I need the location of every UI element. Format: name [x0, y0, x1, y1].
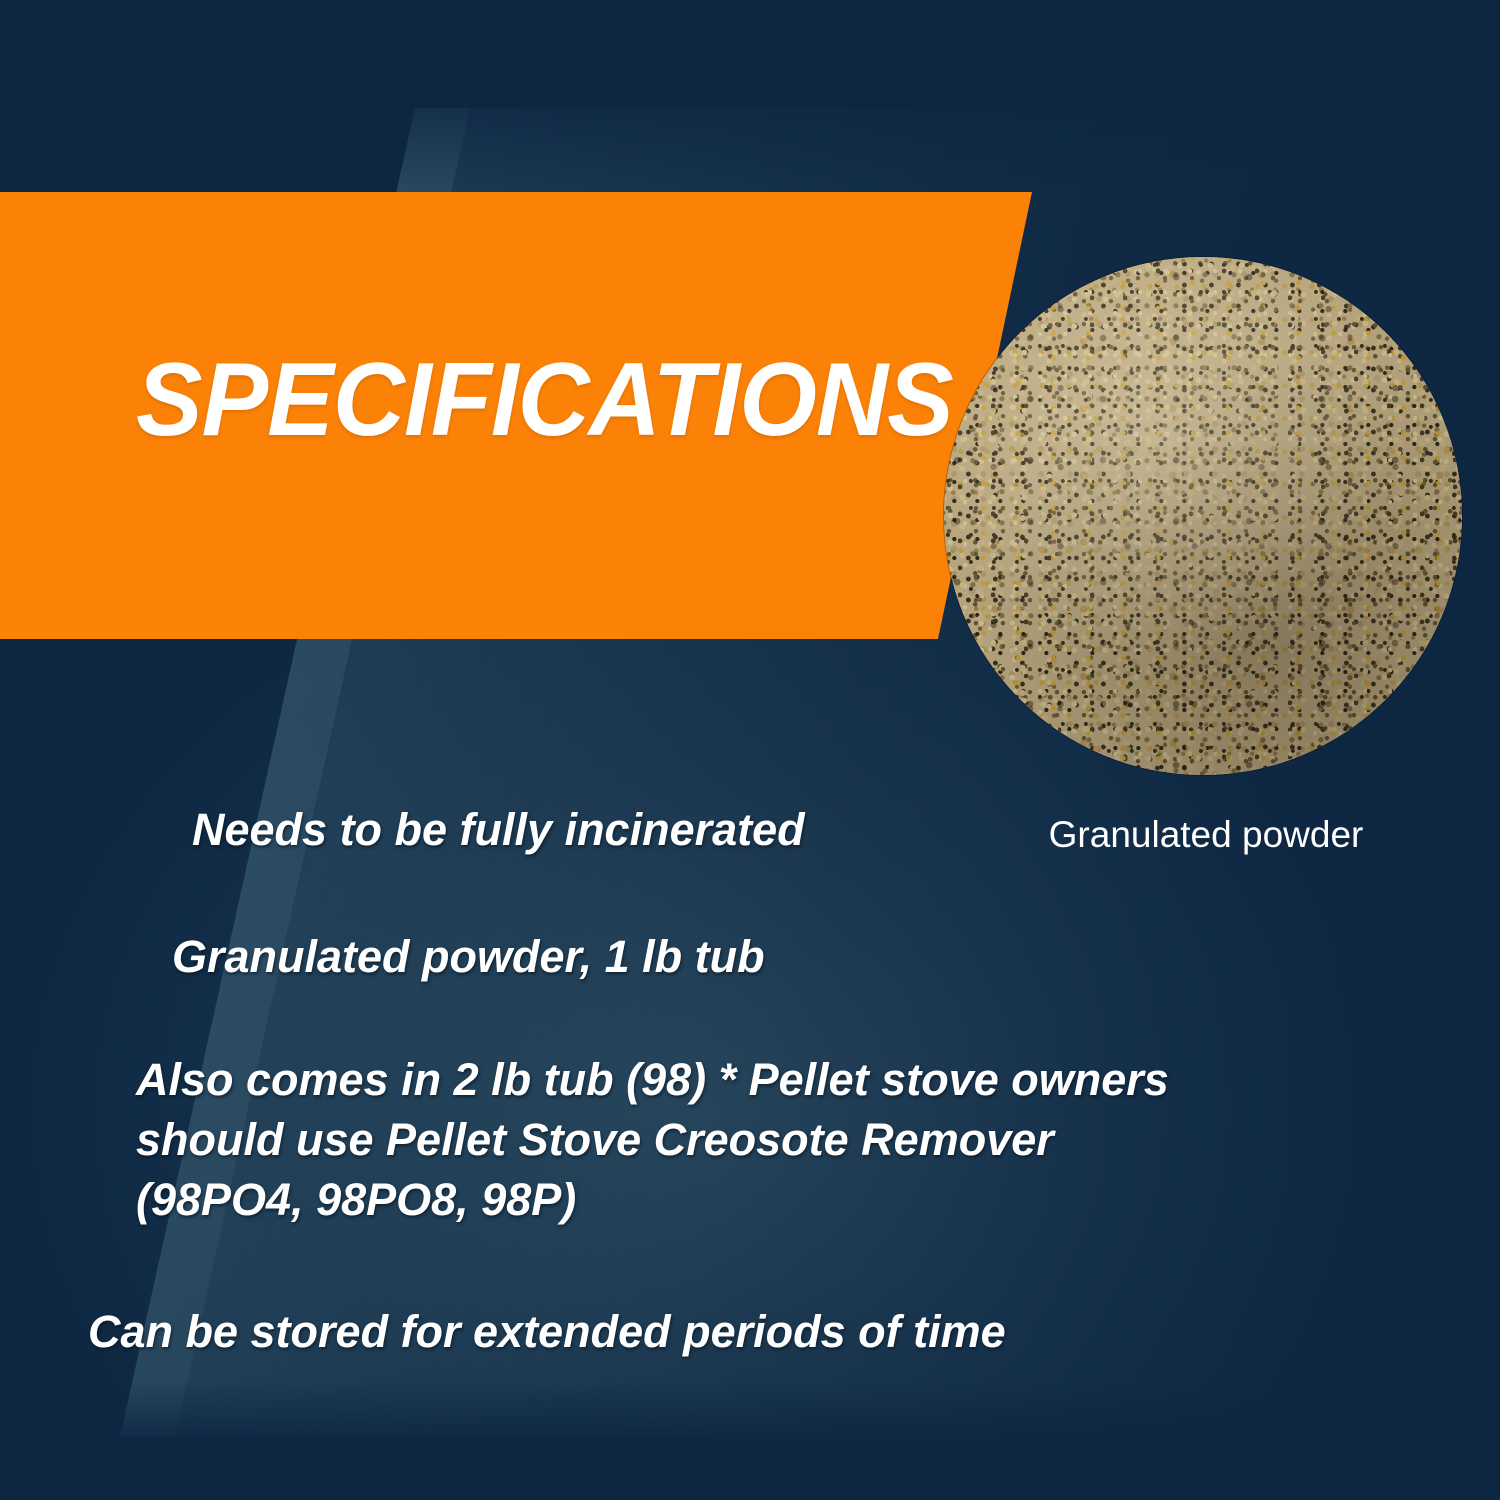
product-specifications-graphic: SPECIFICATIONS Granulated powder Needs t… [0, 0, 1500, 1500]
page-title: SPECIFICATIONS [136, 348, 953, 452]
granule-shading-layer [944, 257, 1462, 775]
background-top-shade [0, 0, 1500, 200]
image-caption: Granulated powder [1038, 812, 1374, 859]
spec-line-incineration: Needs to be fully incinerated [192, 800, 805, 860]
background-bottom-shade [0, 1380, 1500, 1500]
spec-line-form-and-size: Granulated powder, 1 lb tub [172, 927, 765, 987]
granulated-powder-image [944, 257, 1462, 775]
spec-line-other-sizes: Also comes in 2 lb tub (98) * Pellet sto… [136, 1050, 1256, 1230]
spec-line-storage: Can be stored for extended periods of ti… [88, 1302, 1006, 1362]
